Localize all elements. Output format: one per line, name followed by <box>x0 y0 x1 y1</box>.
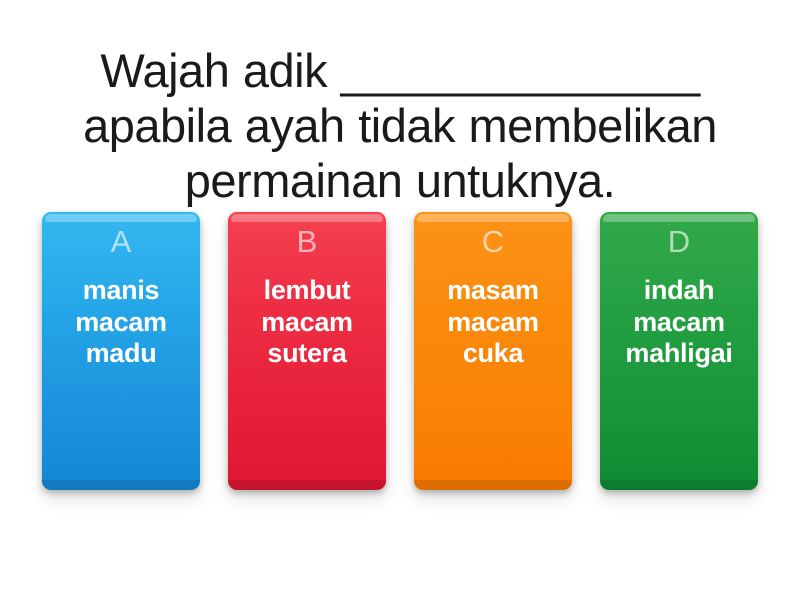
answer-text-d: indah macam mahligai <box>608 275 750 370</box>
answer-letter-b: B <box>297 226 318 257</box>
question-line-1: Wajah adik ______________ <box>100 44 699 97</box>
question-line-3: permainan untuknya. <box>185 154 615 207</box>
answer-card-b[interactable]: B lembut macam sutera <box>228 212 386 490</box>
quiz-question-screen: Wajah adik ______________ apabila ayah t… <box>0 0 800 600</box>
answer-card-d[interactable]: D indah macam mahligai <box>600 212 758 490</box>
answer-text-c: masam macam cuka <box>422 275 564 370</box>
answer-letter-d: D <box>668 226 690 257</box>
question-line-2: apabila ayah tidak membelikan <box>83 99 717 152</box>
answer-card-c[interactable]: C masam macam cuka <box>414 212 572 490</box>
question-text: Wajah adik ______________ apabila ayah t… <box>18 44 782 209</box>
answer-card-a[interactable]: A manis macam madu <box>42 212 200 490</box>
answer-text-a: manis macam madu <box>50 275 192 370</box>
answer-letter-c: C <box>482 226 504 257</box>
answer-letter-a: A <box>111 226 132 257</box>
question-area: Wajah adik ______________ apabila ayah t… <box>0 0 800 209</box>
answer-text-b: lembut macam sutera <box>236 275 378 370</box>
answer-options-list: A manis macam madu B lembut macam sutera… <box>0 209 800 600</box>
